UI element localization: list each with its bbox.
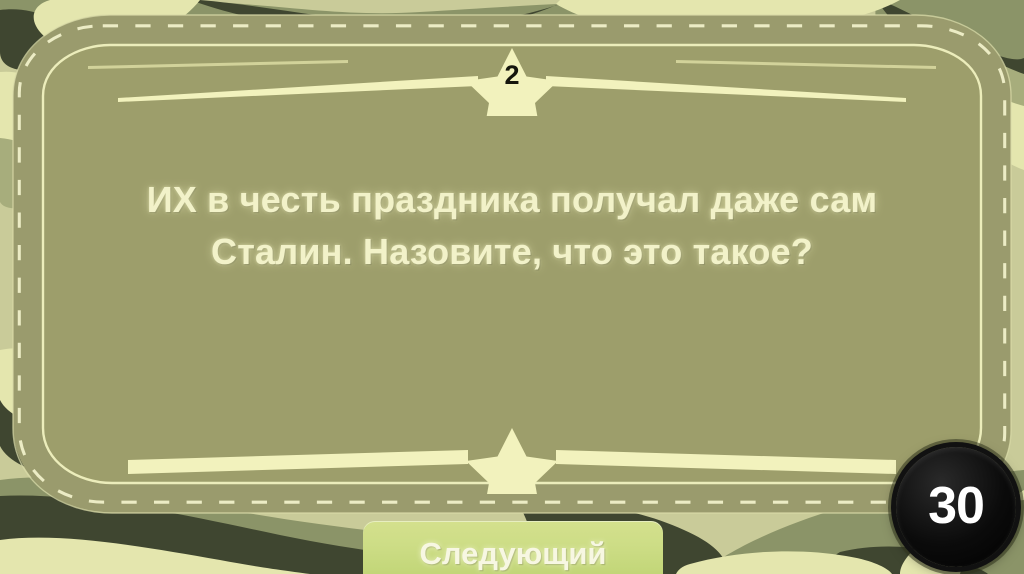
top-star-row: 2 [48, 40, 976, 116]
timer-circle: 30 [896, 447, 1016, 567]
star-shape [466, 428, 558, 494]
timer-value: 30 [928, 480, 984, 532]
question-text: ИХ в честь праздника получал даже сам Ст… [142, 174, 882, 278]
quiz-slide: 2 ИХ в честь праздника получал даже сам … [0, 0, 1024, 574]
timer-badge[interactable]: 30 [896, 447, 1016, 567]
next-button-label: Следующий [420, 538, 607, 569]
star-shape [466, 48, 558, 116]
next-button[interactable]: Следующий [363, 521, 663, 574]
panel-content: 2 ИХ в честь праздника получал даже сам … [48, 26, 976, 496]
bottom-star-row [48, 424, 976, 494]
